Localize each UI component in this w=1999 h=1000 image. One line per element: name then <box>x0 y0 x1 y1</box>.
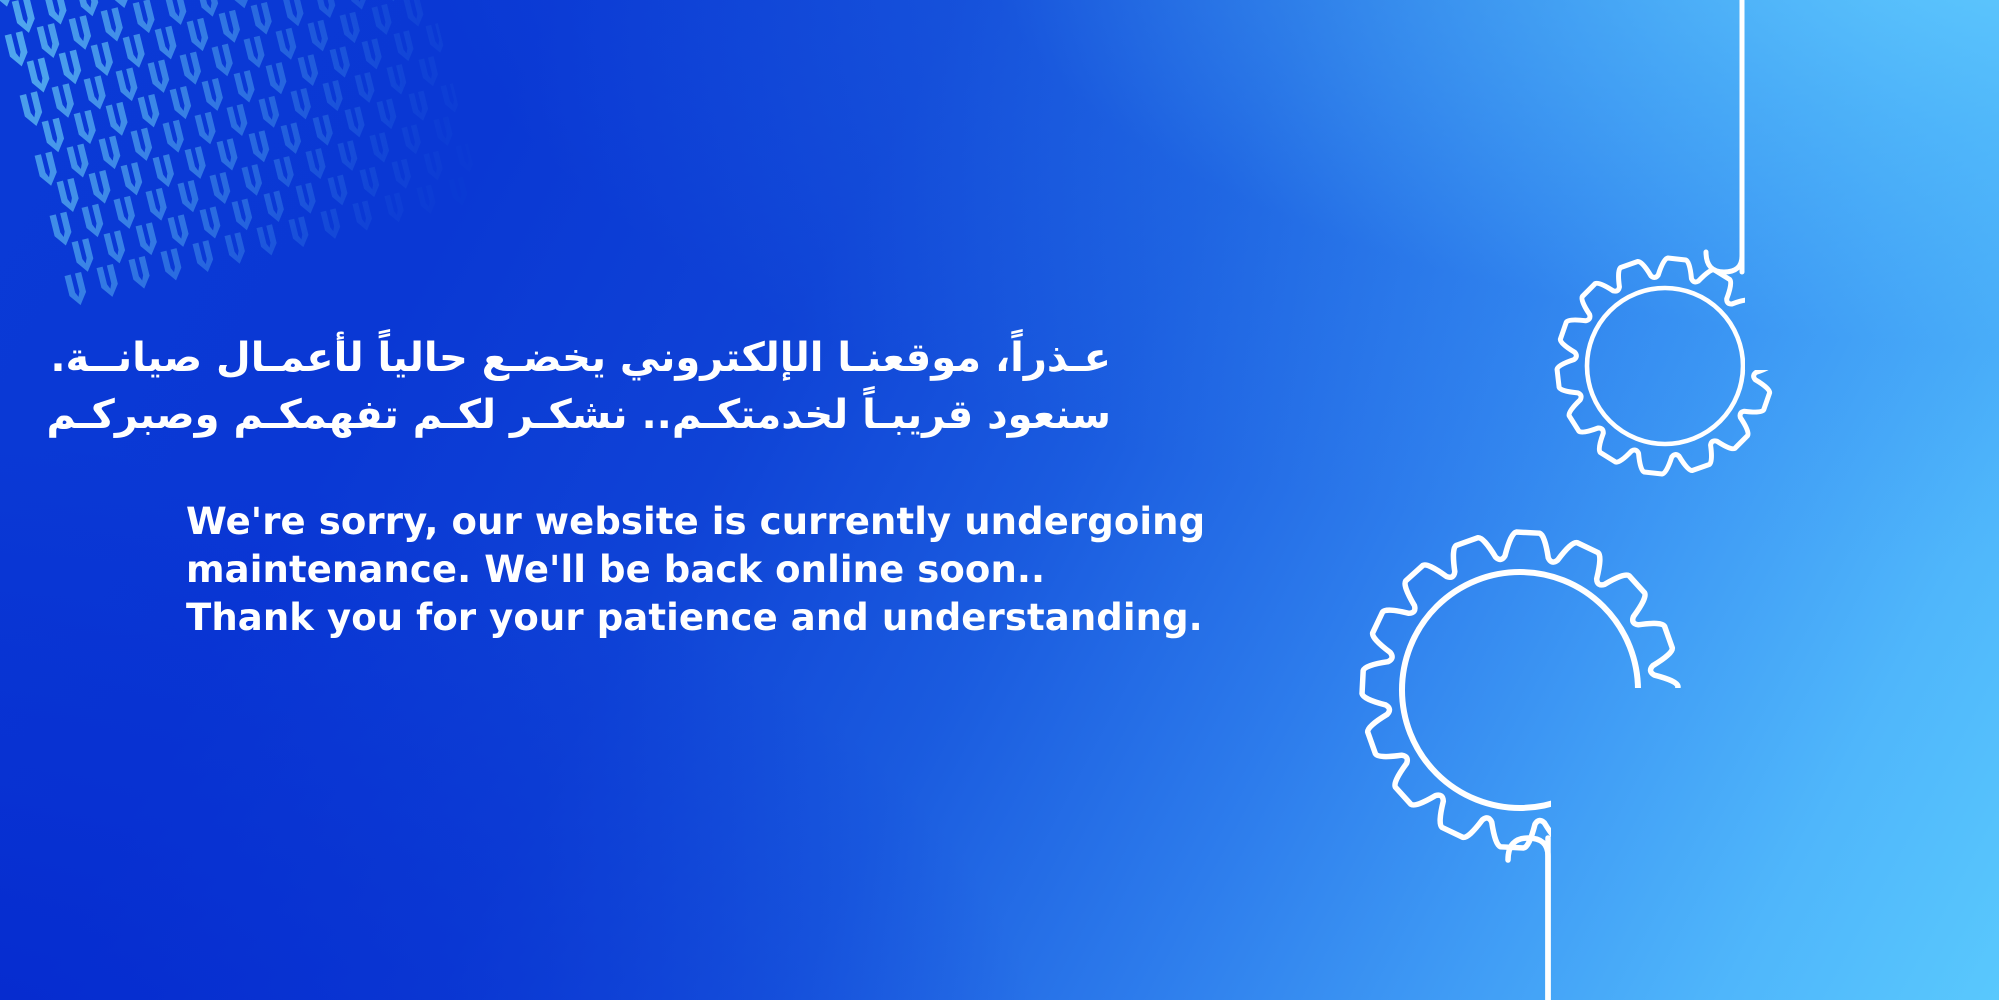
message-block: عـذراً، موقعنـا الإلكتروني يخضـع حالياً … <box>186 330 1186 642</box>
english-line-3: Thank you for your patience and understa… <box>186 594 1186 642</box>
english-message: We're sorry, our website is currently un… <box>186 498 1186 642</box>
english-line-2: maintenance. We'll be back online soon.. <box>186 546 1186 594</box>
arabic-line-2: سنعود قريبـاً لخدمتكـم.. نشكـر لكـم تفهم… <box>186 387 1111 444</box>
arabic-line-1: عـذراً، موقعنـا الإلكتروني يخضـع حالياً … <box>186 330 1111 387</box>
arabic-message: عـذراً، موقعنـا الإلكتروني يخضـع حالياً … <box>186 330 1111 444</box>
maintenance-page: عـذراً، موقعنـا الإلكتروني يخضـع حالياً … <box>0 0 1999 1000</box>
english-line-1: We're sorry, our website is currently un… <box>186 498 1186 546</box>
